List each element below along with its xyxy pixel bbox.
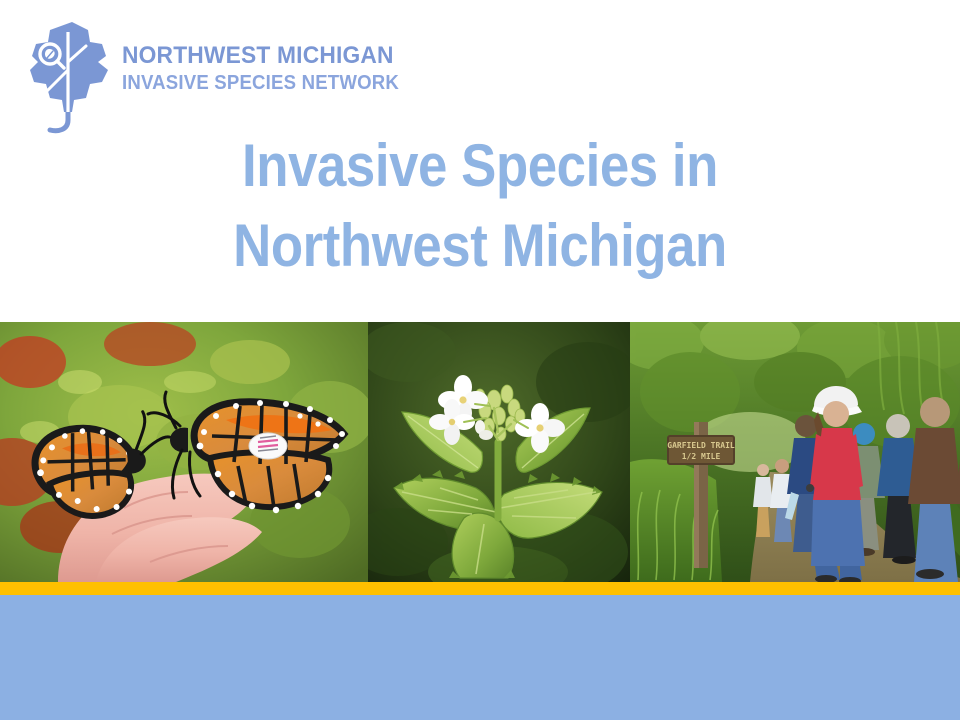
svg-text:GARFIELD TRAIL: GARFIELD TRAIL (667, 441, 735, 450)
monarch-butterflies-photo (0, 322, 368, 582)
slide-title-line2: Northwest Michigan (58, 206, 903, 286)
trail-hikers-photo: GARFIELD TRAIL 1/2 MILE (630, 322, 960, 582)
blue-footer-band (0, 595, 960, 720)
garlic-mustard-photo (368, 322, 630, 582)
organization-name-line2: INVASIVE SPECIES NETWORK (122, 73, 399, 93)
slide-title-line1: Invasive Species in (58, 126, 903, 206)
organization-logo: NORTHWEST MICHIGAN INVASIVE SPECIES NETW… (28, 18, 388, 134)
leaf-magnifier-logo-icon (28, 18, 114, 134)
organization-name-line1: NORTHWEST MICHIGAN (122, 44, 399, 69)
organization-wordmark: NORTHWEST MICHIGAN INVASIVE SPECIES NETW… (122, 18, 420, 93)
photo-strip: GARFIELD TRAIL 1/2 MILE (0, 322, 960, 582)
slide-title: Invasive Species in Northwest Michigan (0, 126, 960, 286)
slide-root: NORTHWEST MICHIGAN INVASIVE SPECIES NETW… (0, 0, 960, 720)
gold-accent-band (0, 582, 960, 595)
svg-text:1/2 MILE: 1/2 MILE (682, 452, 721, 461)
